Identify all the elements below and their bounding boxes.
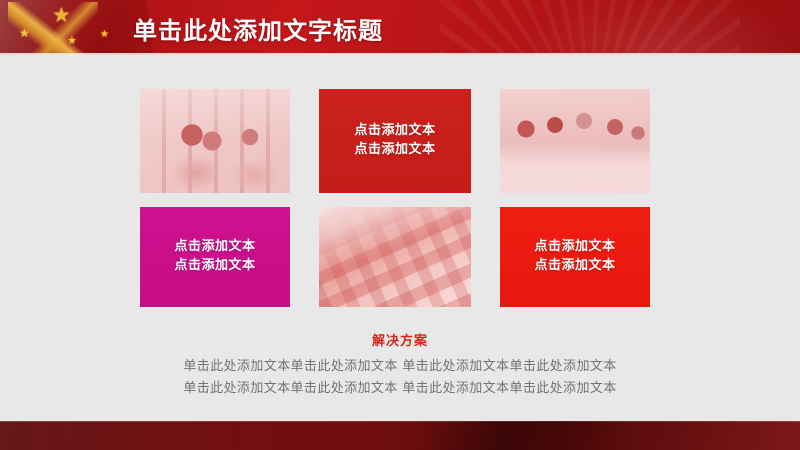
- tile-6-text-block[interactable]: 点击添加文本 点击添加文本: [500, 207, 650, 307]
- tile-4-label: 点击添加文本 点击添加文本: [174, 238, 255, 276]
- tile-3-boardroom-discussion-photo[interactable]: [500, 89, 650, 193]
- footer-sheen-decoration: [0, 421, 800, 450]
- slide-title: 单击此处添加文字标题: [133, 11, 383, 46]
- solution-body-line-1: 单击此处添加文本单击此处添加文本 单击此处添加文本单击此处添加文本: [0, 356, 800, 378]
- tile-4-line-1: 点击添加文本: [174, 238, 255, 257]
- tile-2-label: 点击添加文本 点击添加文本: [354, 122, 435, 160]
- star-icon: ★: [52, 5, 71, 26]
- tile-4-line-2: 点击添加文本: [174, 257, 255, 276]
- tile-4-text-block[interactable]: 点击添加文本 点击添加文本: [140, 207, 290, 307]
- star-icon: ★: [100, 30, 109, 40]
- star-icon: ★: [19, 27, 30, 39]
- star-icon: ★: [67, 35, 77, 46]
- slide-header-banner: ★ ★ ★ ★ 单击此处添加文字标题: [0, 0, 800, 55]
- tile-2-line-1: 点击添加文本: [354, 122, 435, 141]
- solution-heading: 解决方案: [0, 330, 800, 349]
- sunburst-rays-icon: [440, 0, 740, 55]
- tile-5-calculator-hand-photo[interactable]: [319, 207, 471, 307]
- tile-6-line-2: 点击添加文本: [534, 257, 615, 276]
- tile-6-line-1: 点击添加文本: [534, 238, 615, 257]
- tile-1-office-meeting-photo[interactable]: [140, 89, 290, 193]
- header-underline: [0, 53, 800, 55]
- solution-body-line-2: 单击此处添加文本单击此处添加文本 单击此处添加文本单击此处添加文本: [0, 378, 800, 400]
- solution-body: 单击此处添加文本单击此处添加文本 单击此处添加文本单击此处添加文本 单击此处添加…: [0, 356, 800, 401]
- content-tile-grid: 点击添加文本 点击添加文本 点击添加文本 点击添加文本 点击添加文本 点击添加文…: [140, 89, 650, 307]
- tile-6-label: 点击添加文本 点击添加文本: [534, 238, 615, 276]
- solution-section: 解决方案 单击此处添加文本单击此处添加文本 单击此处添加文本单击此处添加文本 单…: [0, 330, 800, 401]
- tile-2-line-2: 点击添加文本: [354, 141, 435, 160]
- tile-2-text-block[interactable]: 点击添加文本 点击添加文本: [319, 89, 471, 193]
- slide-footer-band: [0, 421, 800, 450]
